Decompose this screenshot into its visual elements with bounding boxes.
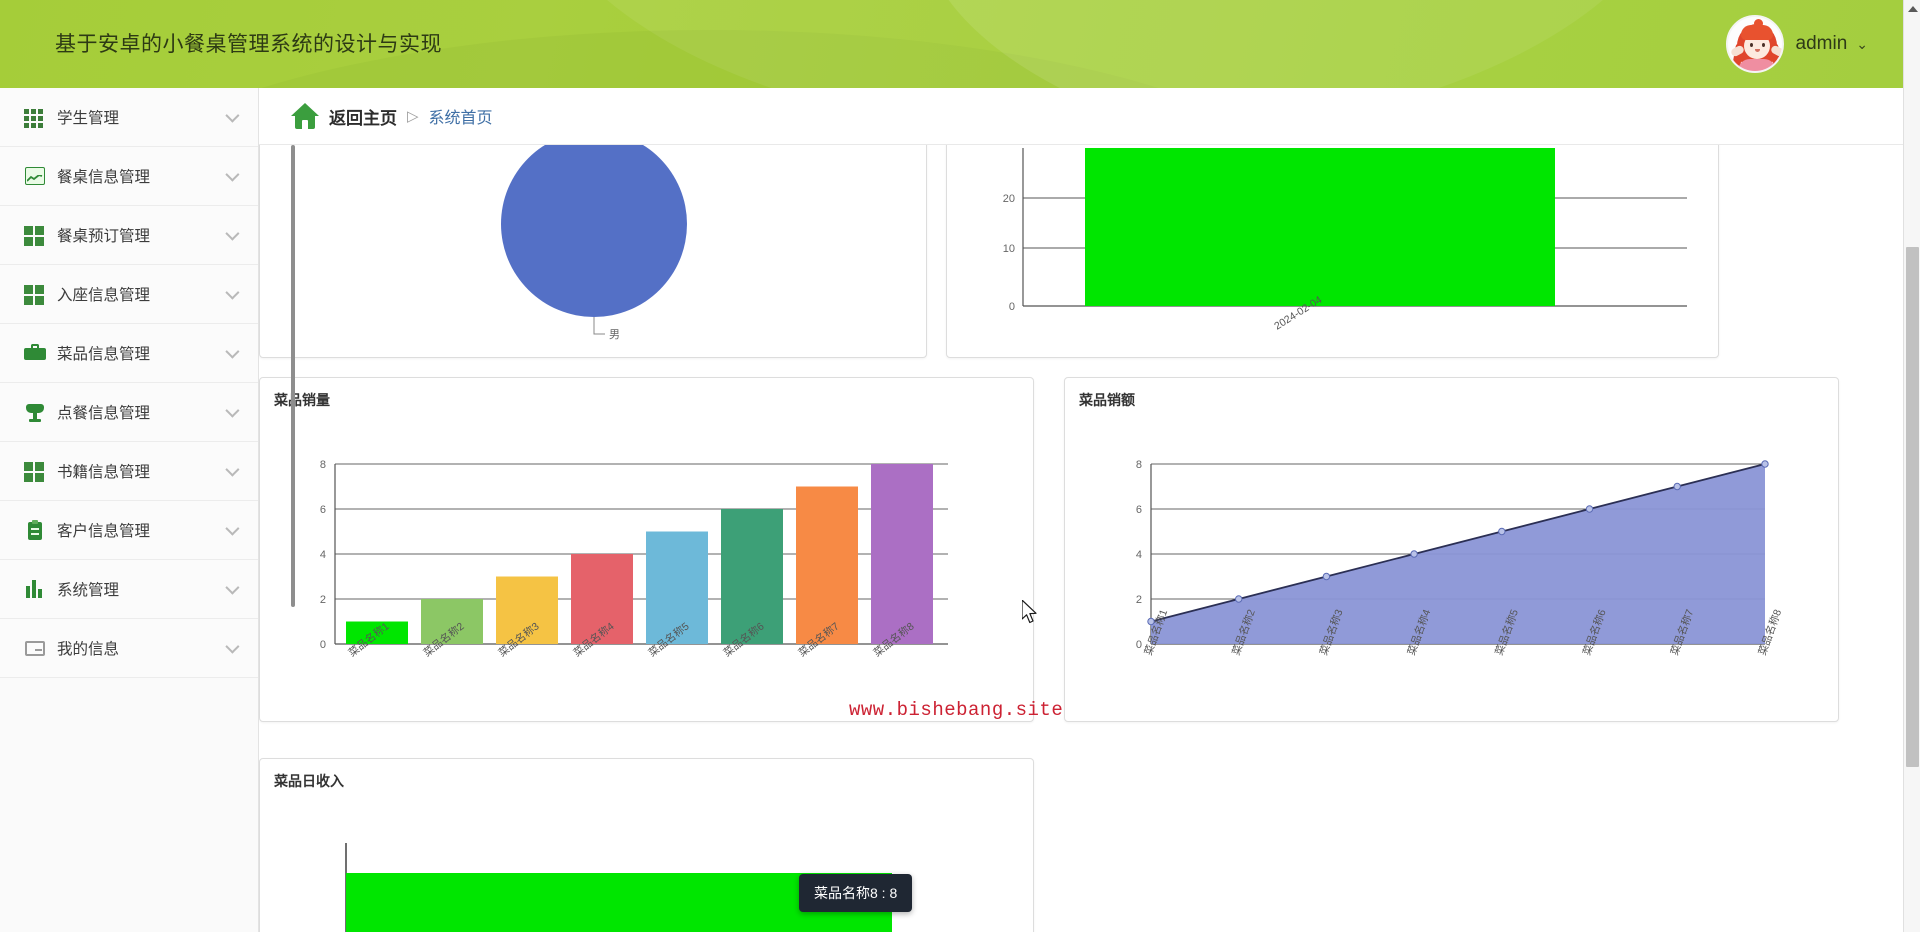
- content-scrollbar[interactable]: [290, 145, 298, 932]
- chevron-down-icon[interactable]: [225, 227, 239, 241]
- point-8: [1762, 461, 1768, 467]
- panel-reservation-daily: 20 10 0 2024-02-04: [946, 145, 1719, 358]
- sidebar-item-order-info-management[interactable]: 点餐信息管理: [0, 383, 258, 442]
- sidebar-item-label: 系统管理: [57, 578, 119, 600]
- line-chart-icon: [24, 165, 46, 187]
- ytick-8: 8: [1136, 459, 1142, 471]
- chart-tooltip: 菜品名称8 : 8: [799, 874, 912, 912]
- point-2: [1236, 596, 1242, 602]
- ytick-4: 4: [320, 549, 326, 561]
- briefcase-icon: [24, 342, 46, 364]
- sidebar-item-table-reservation-management[interactable]: 餐桌预订管理: [0, 206, 258, 265]
- chart-gender-pie[interactable]: 男: [260, 145, 926, 357]
- chart-reservation-daily[interactable]: 20 10 0 2024-02-04: [947, 145, 1718, 357]
- point-7: [1674, 483, 1680, 489]
- sidebar-item-dish-info-management[interactable]: 菜品信息管理: [0, 324, 258, 383]
- sidebar-item-label: 学生管理: [57, 106, 119, 128]
- scroll-up-arrow-icon[interactable]: [1908, 6, 1918, 12]
- breadcrumb-current: 系统首页: [429, 104, 493, 128]
- app-title: 基于安卓的小餐桌管理系统的设计与实现: [55, 28, 442, 58]
- sidebar-item-system-management[interactable]: 系统管理: [0, 560, 258, 619]
- panel-dish-sales: 菜品销量: [259, 377, 1034, 722]
- panel-title: 菜品销量: [274, 390, 330, 410]
- grid-four-icon: [24, 224, 46, 246]
- sidebar-item-label: 点餐信息管理: [57, 401, 150, 423]
- point-6: [1586, 506, 1592, 512]
- user-name: admin: [1796, 33, 1848, 55]
- bar-6: [721, 509, 783, 644]
- bar-8: [871, 464, 933, 644]
- pie-label-male: 男: [609, 329, 620, 341]
- sidebar-item-label: 我的信息: [57, 637, 119, 659]
- ytick-0: 0: [320, 639, 326, 651]
- ytick-6: 6: [1136, 504, 1142, 516]
- ytick-2: 2: [1136, 594, 1142, 606]
- grid-four-icon: [24, 460, 46, 482]
- content-area: 返回主页 ▷ 系统首页 男: [259, 88, 1904, 932]
- sidebar-item-label: 菜品信息管理: [57, 342, 150, 364]
- chart-dish-sales[interactable]: 8 6 4 2 0 菜品名称1 菜品名称2 菜品名称3 菜品名称4 菜品名称5 …: [260, 412, 1033, 723]
- point-5: [1499, 528, 1505, 534]
- content-scrollbar-thumb[interactable]: [291, 145, 295, 607]
- sidebar-item-label: 客户信息管理: [57, 519, 150, 541]
- sidebar-item-book-info-management[interactable]: 书籍信息管理: [0, 442, 258, 501]
- home-icon[interactable]: [291, 103, 319, 129]
- ytick-4: 4: [1136, 549, 1142, 561]
- breadcrumb-home-link[interactable]: 返回主页: [329, 104, 397, 129]
- sidebar-item-label: 入座信息管理: [57, 283, 150, 305]
- ytick-20: 20: [1003, 193, 1015, 205]
- chevron-down-icon[interactable]: [225, 581, 239, 595]
- pie-slice-male: [501, 145, 687, 317]
- browser-scrollbar-thumb[interactable]: [1906, 247, 1919, 767]
- panel-dish-revenue: 菜品销额: [1064, 377, 1839, 722]
- panel-gender-pie: 男: [259, 145, 927, 358]
- bar-7: [796, 487, 858, 645]
- ytick-8: 8: [320, 459, 326, 471]
- id-card-icon: [24, 637, 46, 659]
- dashboard: 男 20 10 0 202: [259, 145, 1904, 932]
- sidebar-item-label: 书籍信息管理: [57, 460, 150, 482]
- chevron-down-icon[interactable]: [225, 286, 239, 300]
- chevron-down-icon[interactable]: [225, 404, 239, 418]
- desk-lamp-icon: [24, 401, 46, 423]
- ytick-10: 10: [1003, 243, 1015, 255]
- sidebar-item-table-info-management[interactable]: 餐桌信息管理: [0, 147, 258, 206]
- user-menu[interactable]: admin ⌄: [1726, 14, 1868, 74]
- site-watermark: www.bishebang.site: [849, 699, 1063, 721]
- ytick-2: 2: [320, 594, 326, 606]
- sidebar-item-customer-info-management[interactable]: 客户信息管理: [0, 501, 258, 560]
- chevron-down-icon[interactable]: [225, 640, 239, 654]
- ytick-0: 0: [1136, 639, 1142, 651]
- breadcrumb: 返回主页 ▷ 系统首页: [259, 88, 1904, 145]
- point-4: [1411, 551, 1417, 557]
- avatar[interactable]: [1726, 15, 1784, 73]
- chevron-down-icon[interactable]: [225, 463, 239, 477]
- bar-2024-02-04: [1085, 148, 1555, 306]
- panel-dish-daily-income: 菜品日收入: [259, 758, 1034, 932]
- sidebar-item-student-management[interactable]: 学生管理: [0, 88, 258, 147]
- app-header: 基于安卓的小餐桌管理系统的设计与实现 admin ⌄: [0, 0, 1920, 88]
- grid-nine-icon: [24, 106, 46, 128]
- sidebar-item-seating-info-management[interactable]: 入座信息管理: [0, 265, 258, 324]
- chevron-down-icon[interactable]: ⌄: [1856, 36, 1868, 53]
- point-3: [1323, 573, 1329, 579]
- panel-title: 菜品销额: [1079, 390, 1135, 410]
- ytick-0: 0: [1009, 301, 1015, 313]
- chart-dish-revenue[interactable]: 8 6 4 2 0 菜品名称1 菜品名称2 菜品名称3 菜品名称4 菜品名称5 …: [1065, 412, 1838, 723]
- chevron-down-icon[interactable]: [225, 168, 239, 182]
- chevron-down-icon[interactable]: [225, 109, 239, 123]
- sidebar-item-label: 餐桌信息管理: [57, 165, 150, 187]
- panel-title: 菜品日收入: [274, 771, 344, 791]
- sidebar-item-label: 餐桌预订管理: [57, 224, 150, 246]
- chart-dish-daily-income[interactable]: [260, 793, 1033, 932]
- sidebar: 学生管理 餐桌信息管理 餐桌预订管理 入座信息管理 菜品信息管理: [0, 88, 259, 932]
- sidebar-item-my-info[interactable]: 我的信息: [0, 619, 258, 678]
- bar-chart-icon: [24, 578, 46, 600]
- chevron-down-icon[interactable]: [225, 345, 239, 359]
- breadcrumb-separator-icon: ▷: [407, 107, 419, 125]
- grid-four-icon: [24, 283, 46, 305]
- ytick-6: 6: [320, 504, 326, 516]
- browser-scrollbar[interactable]: [1903, 0, 1920, 932]
- chevron-down-icon[interactable]: [225, 522, 239, 536]
- clipboard-icon: [24, 519, 46, 541]
